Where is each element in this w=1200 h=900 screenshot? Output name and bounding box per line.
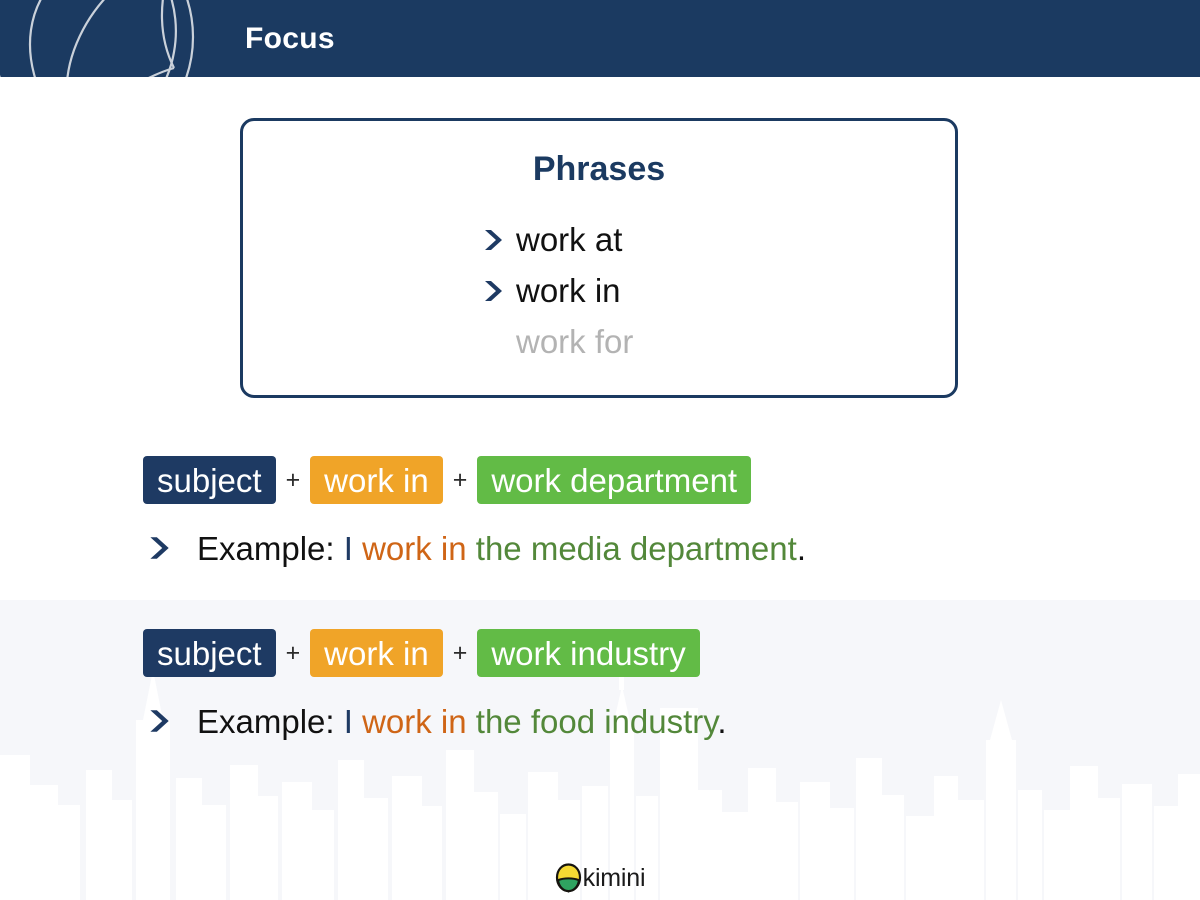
phrases-card: Phrases work at work in xyxy=(240,118,958,398)
example-object: the media department xyxy=(476,530,797,567)
phrase-label: work for xyxy=(516,325,633,358)
example-label: Example: xyxy=(197,703,335,740)
plus-separator: + xyxy=(443,641,478,666)
example-row: Example: I work in the food industry. xyxy=(143,699,727,743)
phrase-label: work in xyxy=(516,274,621,307)
kimini-acorn-icon xyxy=(555,863,582,893)
example-sentence: Example: I work in the food industry. xyxy=(197,705,727,738)
footer-logo: kimini xyxy=(0,856,1200,900)
chevron-right-icon xyxy=(143,534,197,562)
pill-subject: subject xyxy=(143,456,276,504)
page-title: Focus xyxy=(245,0,335,77)
pill-object: work industry xyxy=(477,629,699,677)
phrases-card-title: Phrases xyxy=(243,151,955,188)
example-verb: work in xyxy=(362,703,467,740)
phrases-list: work at work in work for xyxy=(243,214,955,367)
pill-verb: work in xyxy=(310,456,443,504)
pill-verb: work in xyxy=(310,629,443,677)
example-period: . xyxy=(717,703,726,740)
formula-block: subject + work in + work department Exam… xyxy=(143,456,806,570)
example-subject: I xyxy=(344,703,353,740)
example-sentence: Example: I work in the media department. xyxy=(197,532,806,565)
formula-block: subject + work in + work industry Exampl… xyxy=(143,629,727,743)
formula-pill-row: subject + work in + work department xyxy=(143,456,806,504)
example-period: . xyxy=(797,530,806,567)
list-item: work in xyxy=(474,265,724,316)
kimini-outline-logo-icon xyxy=(0,0,208,77)
chevron-right-icon xyxy=(474,227,516,253)
chevron-right-icon xyxy=(143,707,197,735)
header-bar: Focus xyxy=(0,0,1200,77)
example-label: Example: xyxy=(197,530,335,567)
example-row: Example: I work in the media department. xyxy=(143,526,806,570)
plus-separator: + xyxy=(276,641,311,666)
plus-separator: + xyxy=(443,468,478,493)
plus-separator: + xyxy=(276,468,311,493)
slide-root: Focus Phrases work at work in xyxy=(0,0,1200,900)
example-object: the food industry xyxy=(476,703,718,740)
footer-wordmark: kimini xyxy=(583,866,646,891)
pill-object: work department xyxy=(477,456,751,504)
chevron-right-icon xyxy=(474,278,516,304)
formula-pill-row: subject + work in + work industry xyxy=(143,629,727,677)
example-verb: work in xyxy=(362,530,467,567)
list-item: work at xyxy=(474,214,724,265)
pill-subject: subject xyxy=(143,629,276,677)
list-item: work for xyxy=(474,316,724,367)
phrase-label: work at xyxy=(516,223,622,256)
footer-logo-inner: kimini xyxy=(555,863,646,893)
example-subject: I xyxy=(344,530,353,567)
